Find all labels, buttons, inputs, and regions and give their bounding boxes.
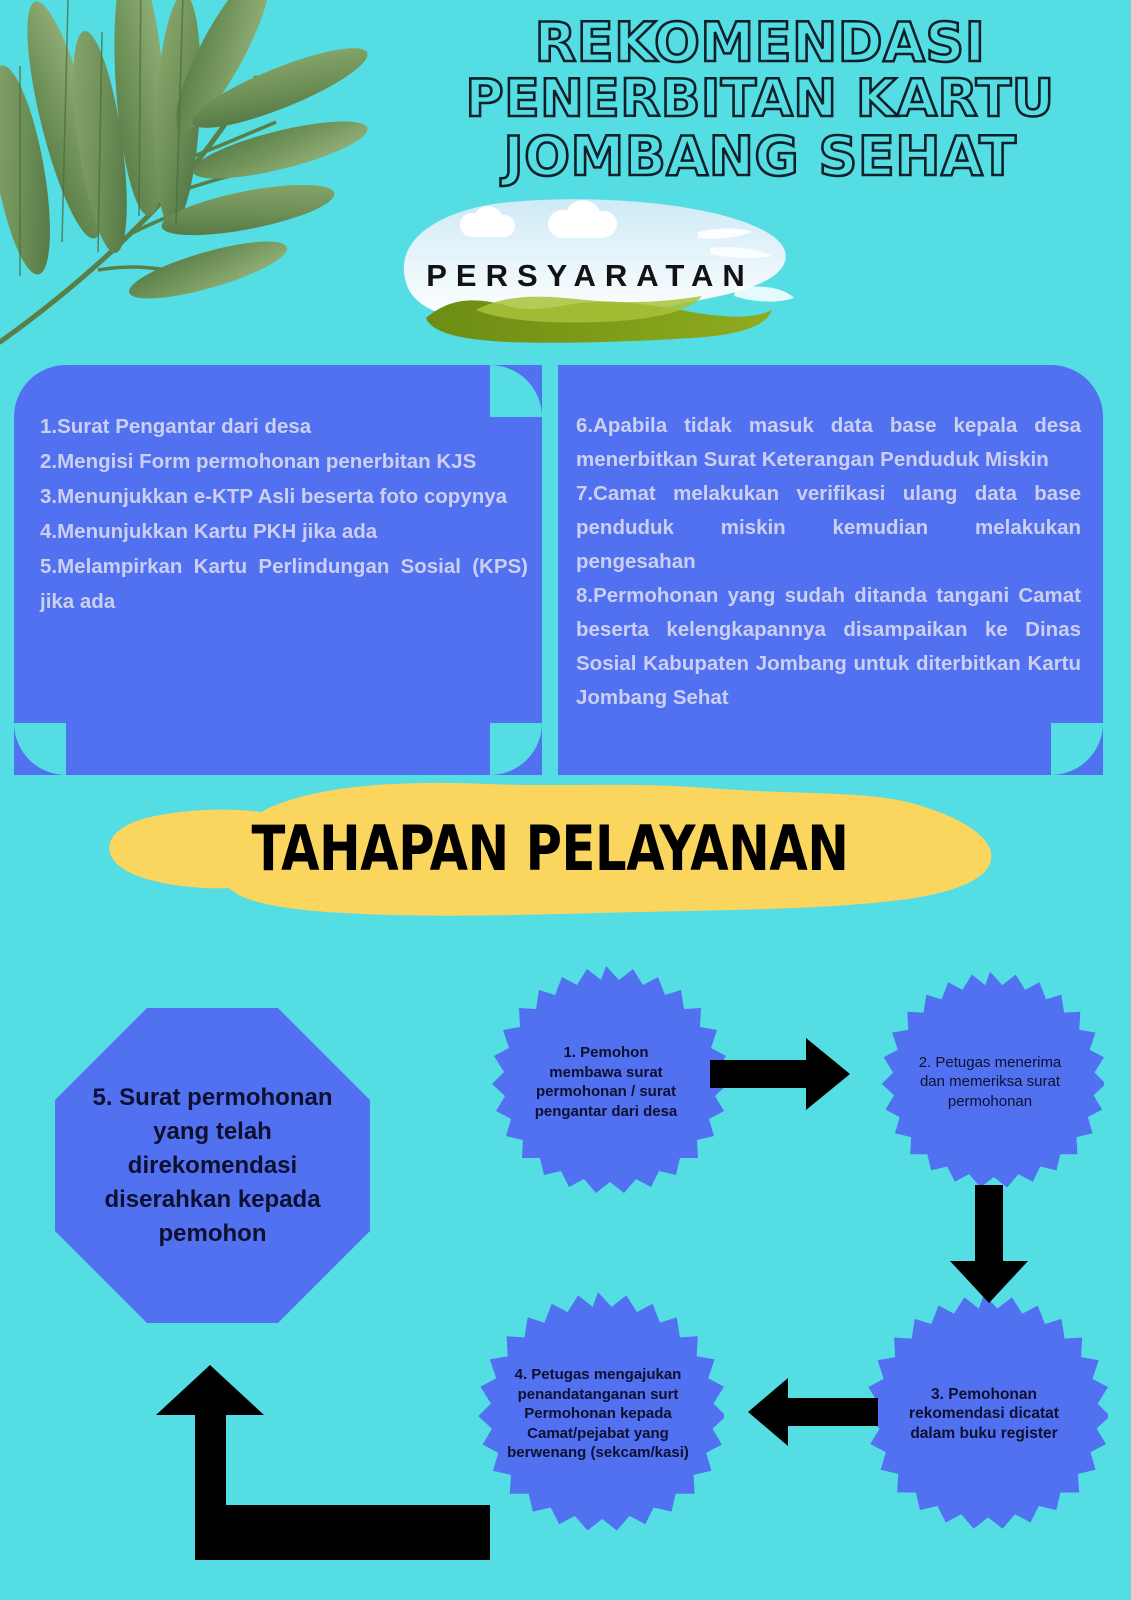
- title-line-3: JOMBANG SEHAT: [410, 128, 1110, 185]
- title-line-1: REKOMENDASI: [410, 14, 1110, 71]
- requirement-item: 6.Apabila tidak masuk data base kepala d…: [576, 409, 1081, 477]
- persyaratan-label: PERSYARATAN: [380, 258, 800, 294]
- requirements-panel-left: 1.Surat Pengantar dari desa 2.Mengisi Fo…: [14, 365, 542, 775]
- arrow-step2-to-step3-icon: [950, 1185, 1028, 1303]
- poster-title: REKOMENDASI PENERBITAN KARTU JOMBANG SEH…: [410, 14, 1110, 185]
- flow-step-4-label: 4. Petugas mengajukan penandatanganan su…: [472, 1288, 724, 1540]
- requirement-item: 3.Menunjukkan e-KTP Asli beserta foto co…: [40, 479, 528, 514]
- olive-branch-decoration: [0, 0, 410, 370]
- requirement-item: 8.Permohonan yang sudah ditanda tangani …: [576, 579, 1081, 715]
- title-line-2: PENERBITAN KARTU: [410, 71, 1110, 128]
- requirement-item: 2.Mengisi Form permohonan penerbitan KJS: [40, 444, 528, 479]
- requirement-item: 7.Camat melakukan verifikasi ulang data …: [576, 477, 1081, 579]
- poster-canvas: REKOMENDASI PENERBITAN KARTU JOMBANG SEH…: [0, 0, 1131, 1600]
- arrow-step1-to-step2-icon: [710, 1038, 850, 1110]
- flow-step-2-label: 2. Petugas menerima dan memeriksa surat …: [876, 968, 1104, 1196]
- requirement-item: 5.Melampirkan Kartu Perlindungan Sosial …: [40, 549, 528, 619]
- requirement-item: 1.Surat Pengantar dari desa: [40, 409, 528, 444]
- flow-step-1-label: 1. Pemohon membawa surat permohonan / su…: [486, 962, 726, 1202]
- section-banner-label: TAHAPAN PELAYANAN: [186, 812, 914, 885]
- arrow-step4-to-step5-elbow-icon: [140, 1355, 490, 1585]
- flow-step-5-label: 5. Surat permohonan yang telah direkomen…: [55, 1008, 370, 1323]
- arrow-step3-to-step4-icon: [748, 1378, 878, 1446]
- requirements-panel-right: 6.Apabila tidak masuk data base kepala d…: [558, 365, 1103, 775]
- flow-step-3-label: 3. Pemohonan rekomendasi dicatat dalam b…: [860, 1290, 1108, 1538]
- requirement-item: 4.Menunjukkan Kartu PKH jika ada: [40, 514, 528, 549]
